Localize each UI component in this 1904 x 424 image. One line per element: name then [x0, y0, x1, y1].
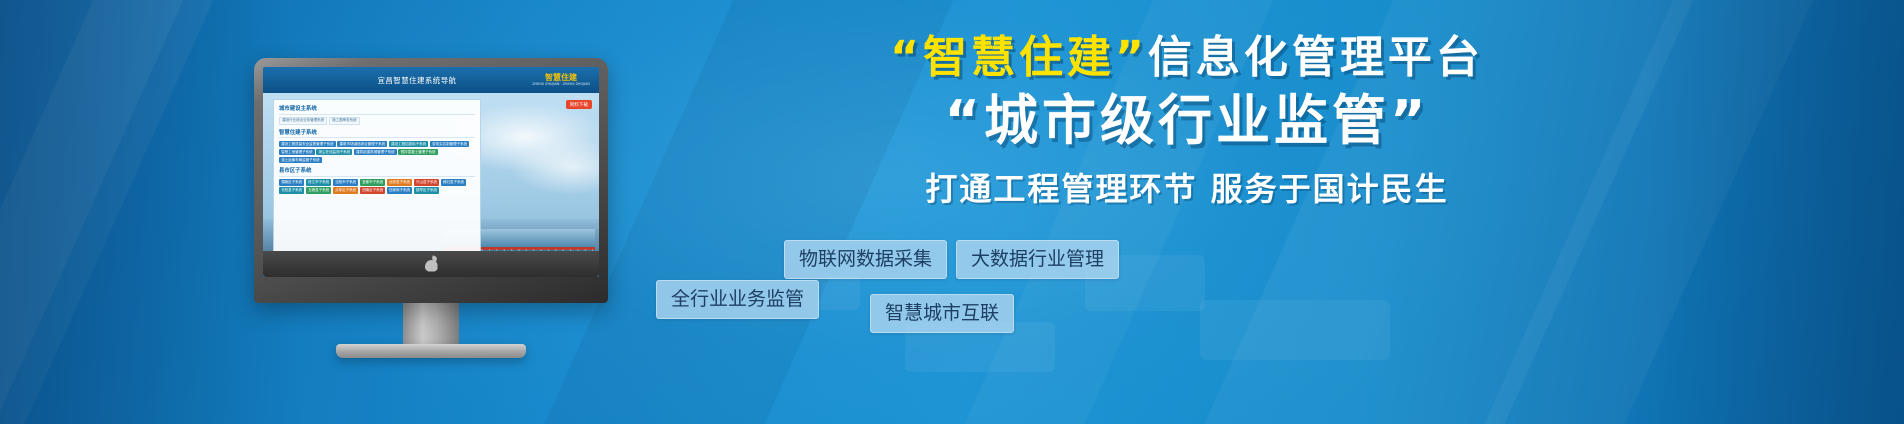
nav-panel: 城市建设主系统 建设行业综合业务管理系统 施工图审查系统 智慧住建子系统 建设工…	[273, 99, 481, 271]
nav-item[interactable]: 宜都市子系统	[360, 179, 385, 186]
nav-item[interactable]: 建筑市场诚信综合管理子系统	[337, 141, 387, 148]
background-accent-square	[1200, 300, 1390, 360]
app-logo: 智慧住建 ZHIHUI ZHUJIAN · ZHIHUI ZHUJIAN	[529, 70, 593, 90]
nav-section-items: 建设行业综合业务管理系统 施工图审查系统	[279, 117, 475, 125]
nav-item[interactable]: 渣土运输车辆监管子系统	[279, 157, 322, 164]
feature-tag-iot[interactable]: 物联网数据采集	[784, 240, 947, 279]
nav-item[interactable]: 建筑起重机械管理子系统	[354, 149, 397, 156]
headline-block: “智慧住建”信息化管理平台 “城市级行业监管” 打通工程管理环节 服务于国计民生	[640, 36, 1820, 210]
app-header: 宜昌智慧住建系统导航 智慧住建 ZHIHUI ZHUJIAN · ZHIHUI …	[263, 67, 599, 93]
nav-item[interactable]: 智慧工地管理子系统	[279, 149, 315, 156]
nav-item[interactable]: 长阳县子系统	[279, 187, 304, 194]
promo-banner: 宜昌智慧住建系统导航 智慧住建 ZHIHUI ZHUJIAN · ZHIHUI …	[0, 0, 1904, 424]
nav-item[interactable]: 预拌混凝土管理子系统	[398, 149, 437, 156]
nav-item[interactable]: 枝江市子系统	[306, 179, 331, 186]
nav-item[interactable]: 劳务实名制管理子系统	[430, 141, 469, 148]
apple-logo-icon	[425, 257, 438, 272]
nav-section-title: 城市建设主系统	[279, 104, 475, 115]
download-badge[interactable]: 资料下载	[566, 100, 592, 109]
monitor-mockup: 宜昌智慧住建系统导航 智慧住建 ZHIHUI ZHUJIAN · ZHIHUI …	[254, 58, 608, 303]
feature-tag-bigdata[interactable]: 大数据行业管理	[956, 240, 1119, 279]
nav-item[interactable]: 西陵区子系统	[360, 187, 385, 194]
nav-item[interactable]: 夷陵区子系统	[279, 179, 304, 186]
monitor-screen: 宜昌智慧住建系统导航 智慧住建 ZHIHUI ZHUJIAN · ZHIHUI …	[263, 67, 599, 277]
nav-section-items: 建设工程质量安全监督管理子系统 建筑市场诚信综合管理子系统 建设工程招投标子系统…	[279, 141, 475, 164]
nav-item[interactable]: 猇亭区子系统	[414, 187, 439, 194]
headline-subtitle: 打通工程管理环节 服务于国计民生	[640, 164, 1820, 210]
nav-item[interactable]: 建设工程招投标子系统	[389, 141, 428, 148]
monitor-bezel: 宜昌智慧住建系统导航 智慧住建 ZHIHUI ZHUJIAN · ZHIHUI …	[254, 58, 608, 303]
nav-item[interactable]: 兴山县子系统	[414, 179, 439, 186]
nav-section-title: 智慧住建子系统	[279, 128, 475, 139]
headline-quoted-term: “智慧住建”	[890, 32, 1148, 83]
nav-item[interactable]: 伍家岗子系统	[387, 187, 412, 194]
feature-tag-smart-city[interactable]: 智慧城市互联	[870, 294, 1014, 333]
nav-item[interactable]: 远安县子系统	[387, 179, 412, 186]
monitor-stand-base	[336, 344, 526, 358]
nav-item[interactable]: 建设工程质量安全监督管理子系统	[279, 141, 336, 148]
nav-item[interactable]: 五峰县子系统	[306, 187, 331, 194]
nav-item[interactable]: 当阳市子系统	[333, 179, 358, 186]
nav-item[interactable]: 施工图审查系统	[329, 117, 360, 125]
nav-item[interactable]: 建设行业综合业务管理系统	[279, 117, 327, 125]
headline-line-2: “城市级行业监管”	[640, 94, 1820, 148]
nav-section-items: 夷陵区子系统 枝江市子系统 当阳市子系统 宜都市子系统 远安县子系统 兴山县子系…	[279, 179, 475, 194]
headline-line-1: “智慧住建”信息化管理平台	[640, 36, 1820, 80]
monitor-chin	[263, 251, 599, 277]
nav-item[interactable]: 扬尘在线监测子系统	[316, 149, 352, 156]
app-title: 宜昌智慧住建系统导航	[269, 75, 529, 86]
monitor-stand-neck	[403, 303, 459, 347]
headline-line-1-rest: 信息化管理平台	[1148, 32, 1484, 83]
feature-tag-all-industry[interactable]: 全行业业务监管	[656, 280, 819, 319]
nav-item[interactable]: 秭归县子系统	[441, 179, 466, 186]
app-logo-en: ZHIHUI ZHUJIAN · ZHIHUI ZHUJIAN	[532, 82, 590, 87]
nav-item[interactable]: 点军区子系统	[333, 187, 358, 194]
app-logo-cn: 智慧住建	[545, 73, 577, 82]
app-body: 资料下载 城市建设主系统 建设行业综合业务管理系统 施工图审查系统 智慧住建子系…	[263, 93, 599, 277]
nav-section-title: 县市区子系统	[279, 166, 475, 177]
